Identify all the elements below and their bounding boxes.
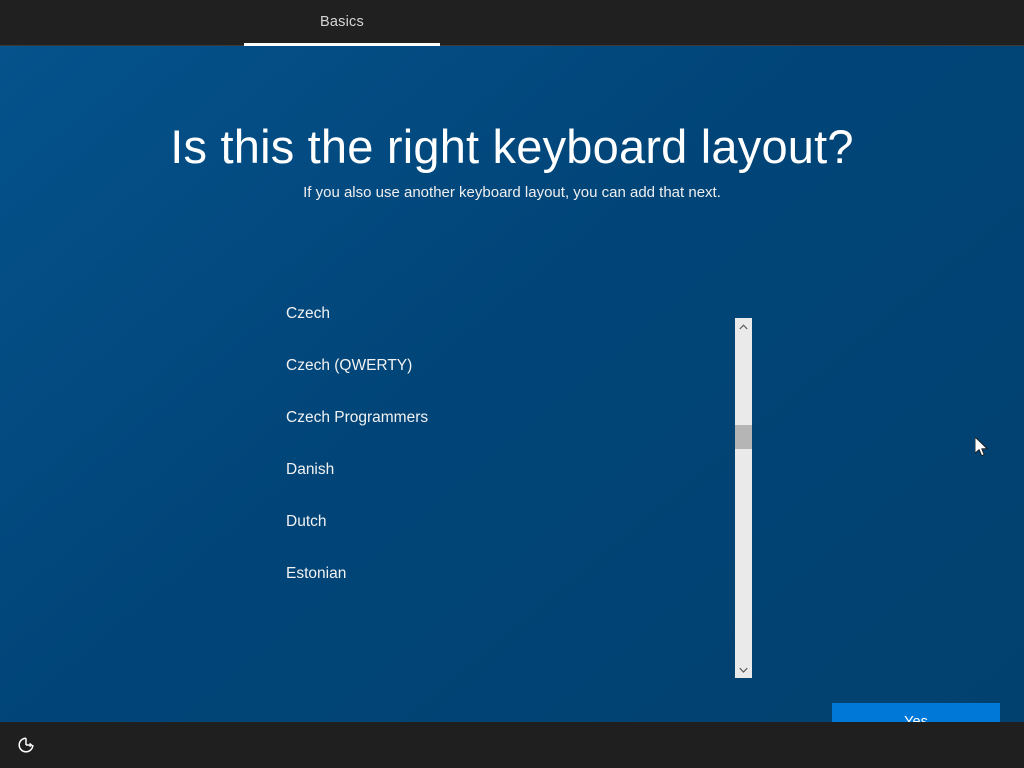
top-navigation-bar: Basics	[0, 0, 1024, 46]
keyboard-layout-list-region: Central Atlas Tamazight Czech Czech (QWE…	[285, 270, 751, 634]
bottom-bar	[0, 722, 1024, 768]
list-item[interactable]: Czech (QWERTY)	[285, 340, 720, 392]
keyboard-layout-list-viewport[interactable]: Central Atlas Tamazight Czech Czech (QWE…	[285, 270, 720, 634]
page-title: Is this the right keyboard layout?	[0, 119, 1024, 174]
list-item[interactable]: Estonian	[285, 548, 720, 600]
page-subtitle: If you also use another keyboard layout,…	[0, 184, 1024, 201]
tab-basics[interactable]: Basics	[244, 0, 440, 46]
main-content-area: Is this the right keyboard layout? If yo…	[0, 46, 1024, 722]
scrollbar-track[interactable]	[735, 335, 752, 661]
chevron-up-icon[interactable]	[735, 318, 752, 335]
chevron-down-icon[interactable]	[735, 661, 752, 678]
list-item[interactable]: Czech Programmers	[285, 392, 720, 444]
tab-basics-label: Basics	[320, 14, 364, 30]
list-scrollbar[interactable]	[735, 318, 752, 678]
list-item[interactable]: Central Atlas Tamazight	[285, 270, 720, 288]
list-item[interactable]: Czech	[285, 288, 720, 340]
scrollbar-thumb[interactable]	[735, 425, 752, 449]
list-item[interactable]: Danish	[285, 444, 720, 496]
keyboard-layout-list: Central Atlas Tamazight Czech Czech (QWE…	[285, 270, 720, 600]
oobe-screen: Basics Is this the right keyboard layout…	[0, 0, 1024, 768]
ease-of-access-icon[interactable]	[12, 732, 40, 758]
list-item[interactable]: Dutch	[285, 496, 720, 548]
